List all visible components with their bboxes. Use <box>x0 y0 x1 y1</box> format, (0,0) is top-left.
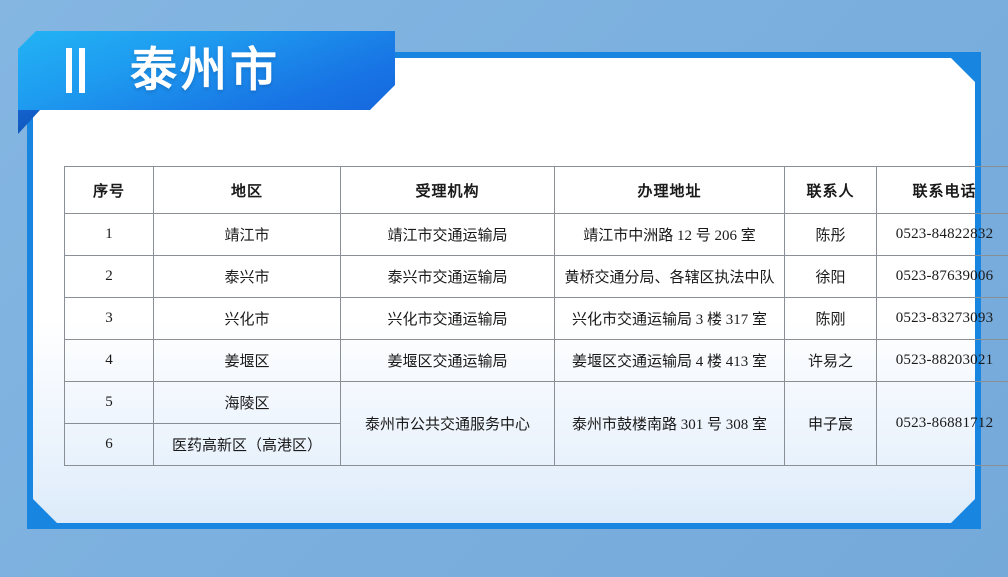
table-row: 2 泰兴市 泰兴市交通运输局 黄桥交通分局、各辖区执法中队 徐阳 0523-87… <box>65 256 1008 298</box>
title-banner-inner: 泰州市 <box>18 31 395 110</box>
table-head: 序号 地区 受理机构 办理地址 联系人 联系电话 <box>65 167 1008 214</box>
title-banner: 泰州市 <box>18 31 395 110</box>
cell-num: 2 <box>65 256 154 298</box>
table-row: 3 兴化市 兴化市交通运输局 兴化市交通运输局 3 楼 317 室 陈刚 052… <box>65 298 1008 340</box>
column-header-address: 办理地址 <box>555 167 785 214</box>
cell-agency: 靖江市交通运输局 <box>341 214 555 256</box>
cell-region: 兴化市 <box>154 298 341 340</box>
cell-address: 靖江市中洲路 12 号 206 室 <box>555 214 785 256</box>
frame-bottom-bar <box>27 523 981 529</box>
page-title: 泰州市 <box>130 47 280 94</box>
cell-num: 6 <box>65 424 154 466</box>
cell-person-merged: 申子宸 <box>785 382 877 466</box>
table-body: 1 靖江市 靖江市交通运输局 靖江市中洲路 12 号 206 室 陈彤 0523… <box>65 214 1008 466</box>
cell-region: 姜堰区 <box>154 340 341 382</box>
contacts-table: 序号 地区 受理机构 办理地址 联系人 联系电话 1 靖江市 靖江市交通运输局 … <box>64 166 1008 466</box>
cell-num: 4 <box>65 340 154 382</box>
contacts-table-wrapper: 序号 地区 受理机构 办理地址 联系人 联系电话 1 靖江市 靖江市交通运输局 … <box>64 166 958 466</box>
cell-region: 医药高新区（高港区） <box>154 424 341 466</box>
cell-region: 靖江市 <box>154 214 341 256</box>
cell-region: 海陵区 <box>154 382 341 424</box>
table-header-row: 序号 地区 受理机构 办理地址 联系人 联系电话 <box>65 167 1008 214</box>
cell-address: 黄桥交通分局、各辖区执法中队 <box>555 256 785 298</box>
cell-phone: 0523-84822832 <box>877 214 1008 256</box>
cell-agency: 泰兴市交通运输局 <box>341 256 555 298</box>
cell-num: 3 <box>65 298 154 340</box>
cell-address: 兴化市交通运输局 3 楼 317 室 <box>555 298 785 340</box>
cell-phone: 0523-87639006 <box>877 256 1008 298</box>
cell-phone: 0523-88203021 <box>877 340 1008 382</box>
cell-agency-merged: 泰州市公共交通服务中心 <box>341 382 555 466</box>
cell-agency: 姜堰区交通运输局 <box>341 340 555 382</box>
cell-person: 陈彤 <box>785 214 877 256</box>
cell-address: 姜堰区交通运输局 4 楼 413 室 <box>555 340 785 382</box>
cell-address-merged: 泰州市鼓楼南路 301 号 308 室 <box>555 382 785 466</box>
column-header-region: 地区 <box>154 167 341 214</box>
column-header-num: 序号 <box>65 167 154 214</box>
cell-person: 许易之 <box>785 340 877 382</box>
cell-region: 泰兴市 <box>154 256 341 298</box>
table-row: 4 姜堰区 姜堰区交通运输局 姜堰区交通运输局 4 楼 413 室 许易之 05… <box>65 340 1008 382</box>
table-row: 5 海陵区 泰州市公共交通服务中心 泰州市鼓楼南路 301 号 308 室 申子… <box>65 382 1008 424</box>
cell-person: 徐阳 <box>785 256 877 298</box>
cell-phone: 0523-83273093 <box>877 298 1008 340</box>
cell-num: 1 <box>65 214 154 256</box>
double-bar-icon <box>66 48 85 93</box>
cell-num: 5 <box>65 382 154 424</box>
column-header-phone: 联系电话 <box>877 167 1008 214</box>
column-header-person: 联系人 <box>785 167 877 214</box>
cell-agency: 兴化市交通运输局 <box>341 298 555 340</box>
cell-phone-merged: 0523-86881712 <box>877 382 1008 466</box>
poster-root: 泰州市 序号 地区 受理机构 办理地址 联系人 联系电话 1 靖江市 靖江市交通… <box>0 0 1008 577</box>
cell-person: 陈刚 <box>785 298 877 340</box>
table-row: 1 靖江市 靖江市交通运输局 靖江市中洲路 12 号 206 室 陈彤 0523… <box>65 214 1008 256</box>
column-header-agency: 受理机构 <box>341 167 555 214</box>
